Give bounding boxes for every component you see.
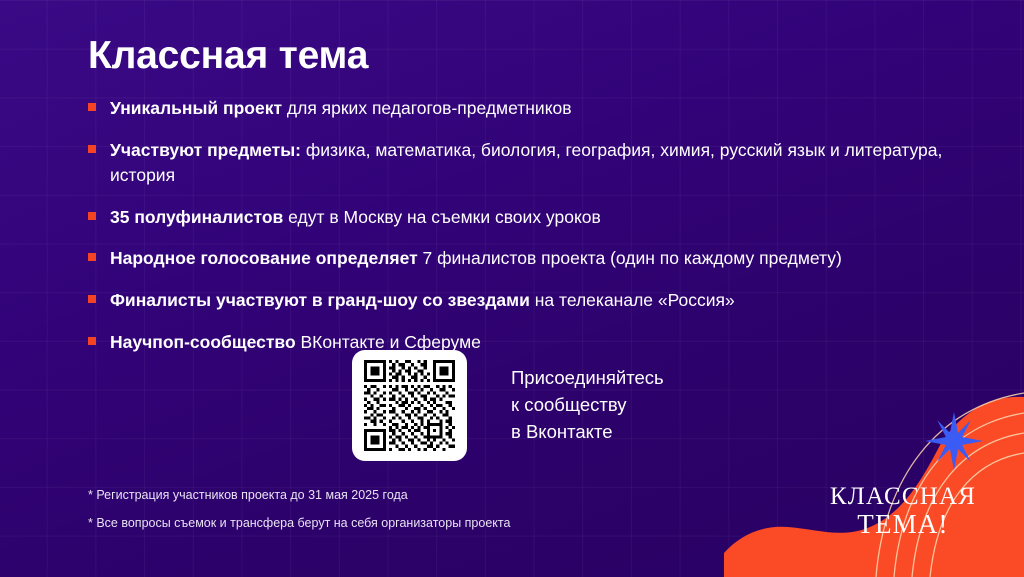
brand-logo-line2: ТЕМА! — [857, 509, 948, 539]
list-item-strong: Народное голосование определяет — [110, 248, 418, 268]
qr-code-card[interactable] — [352, 350, 467, 461]
square-bullet-icon — [88, 212, 96, 220]
concentric-arc-lines — [876, 393, 1024, 577]
page-title: Классная тема — [88, 34, 368, 79]
brand-logo-line1: КЛАССНАЯ — [830, 483, 976, 510]
eight-point-star-icon — [925, 412, 983, 470]
list-item: Уникальный проект для ярких педагогов-пр… — [88, 96, 958, 121]
list-item: Народное голосование определяет 7 финали… — [88, 246, 958, 271]
footnote-item: * Все вопросы съемок и трансфера берут н… — [88, 515, 510, 533]
orange-wave-blob — [724, 397, 1024, 577]
qr-code-icon — [364, 360, 455, 451]
qr-caption: Присоединяйтесь к сообществу в Вконтакте — [511, 365, 664, 445]
list-item: 35 полуфиналистов едут в Москву на съемк… — [88, 205, 958, 230]
list-item-strong: Уникальный проект — [110, 98, 282, 118]
square-bullet-icon — [88, 337, 96, 345]
list-item-regular: едут в Москву на съемки своих уроков — [283, 207, 601, 227]
list-item-strong: Финалисты участвуют в гранд-шоу со звезд… — [110, 290, 530, 310]
list-item-regular: для ярких педагогов-предметников — [282, 98, 572, 118]
square-bullet-icon — [88, 295, 96, 303]
qr-join-block: Присоединяйтесь к сообществу в Вконтакте — [352, 350, 664, 461]
square-bullet-icon — [88, 103, 96, 111]
list-item: Финалисты участвуют в гранд-шоу со звезд… — [88, 288, 958, 313]
footnote-list: * Регистрация участников проекта до 31 м… — [88, 487, 510, 542]
list-item-strong: 35 полуфиналистов — [110, 207, 283, 227]
square-bullet-icon — [88, 253, 96, 261]
presentation-slide: КЛАССНАЯ ТЕМА! Классная тема Уникальный … — [0, 0, 1024, 577]
square-bullet-icon — [88, 145, 96, 153]
list-item-regular: 7 финалистов проекта (один по каждому пр… — [418, 248, 842, 268]
list-item-strong: Участвуют предметы: — [110, 140, 301, 160]
brand-logo: КЛАССНАЯ ТЕМА! — [818, 478, 988, 542]
list-item-strong: Научпоп-сообщество — [110, 332, 296, 352]
list-item-regular: на телеканале «Россия» — [530, 290, 735, 310]
corner-decoration — [724, 387, 1024, 577]
bullet-list: Уникальный проект для ярких педагогов-пр… — [88, 96, 958, 372]
footnote-item: * Регистрация участников проекта до 31 м… — [88, 487, 510, 505]
list-item: Участвуют предметы: физика, математика, … — [88, 138, 958, 188]
